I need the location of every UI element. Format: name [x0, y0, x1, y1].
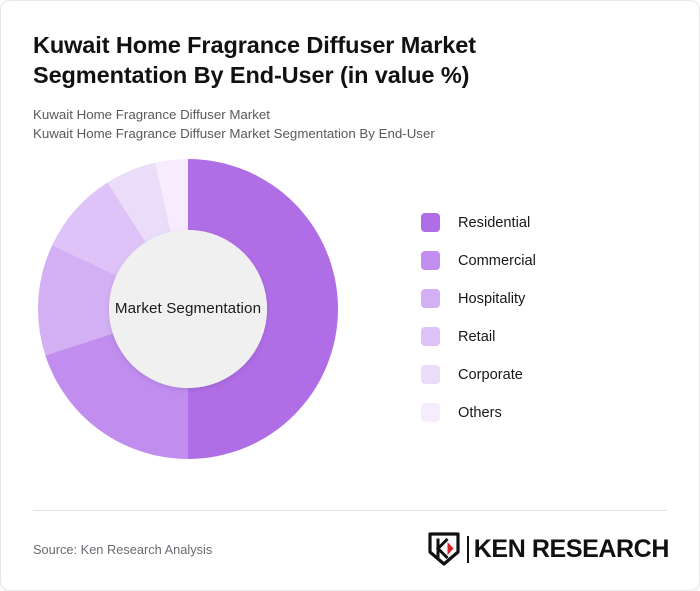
donut-hole — [109, 230, 267, 388]
logo-separator-bar — [467, 536, 469, 563]
legend-item-commercial[interactable]: Commercial — [421, 242, 536, 280]
subtitle-secondary: Kuwait Home Fragrance Diffuser Market Se… — [33, 124, 667, 144]
chart-body: Market Segmentation ResidentialCommercia… — [33, 158, 667, 463]
ken-research-logo: KEN RESEARCH — [427, 531, 669, 567]
legend-item-label: Others — [458, 405, 502, 421]
legend-item-label: Residential — [458, 215, 530, 231]
legend-swatch-icon — [421, 213, 440, 232]
subtitle-primary: Kuwait Home Fragrance Diffuser Market — [33, 105, 667, 125]
legend-item-label: Retail — [458, 329, 495, 345]
legend-swatch-icon — [421, 365, 440, 384]
donut-chart: Market Segmentation — [33, 158, 343, 460]
source-text: Source: Ken Research Analysis — [33, 542, 212, 557]
logo-wordmark: KEN RESEARCH — [474, 537, 669, 562]
legend-item-others[interactable]: Others — [421, 394, 536, 432]
page-title: Kuwait Home Fragrance Diffuser Market Se… — [33, 31, 593, 91]
donut-svg — [33, 158, 343, 460]
chart-footer: Source: Ken Research Analysis KEN RESEAR… — [33, 528, 669, 570]
legend-item-corporate[interactable]: Corporate — [421, 356, 536, 394]
ken-research-shield-icon — [427, 531, 461, 567]
legend-swatch-icon — [421, 327, 440, 346]
subtitle-group: Kuwait Home Fragrance Diffuser Market Ku… — [33, 105, 667, 144]
legend-swatch-icon — [421, 289, 440, 308]
legend-swatch-icon — [421, 251, 440, 270]
legend-item-label: Commercial — [458, 253, 536, 269]
legend-swatch-icon — [421, 403, 440, 422]
legend-item-hospitality[interactable]: Hospitality — [421, 280, 536, 318]
legend-item-retail[interactable]: Retail — [421, 318, 536, 356]
chart-card: Kuwait Home Fragrance Diffuser Market Se… — [0, 0, 700, 591]
legend-item-label: Hospitality — [458, 291, 525, 307]
legend-item-residential[interactable]: Residential — [421, 204, 536, 242]
legend-item-label: Corporate — [458, 367, 523, 383]
chart-legend: ResidentialCommercialHospitalityRetailCo… — [421, 204, 536, 432]
footer-divider — [33, 510, 667, 511]
